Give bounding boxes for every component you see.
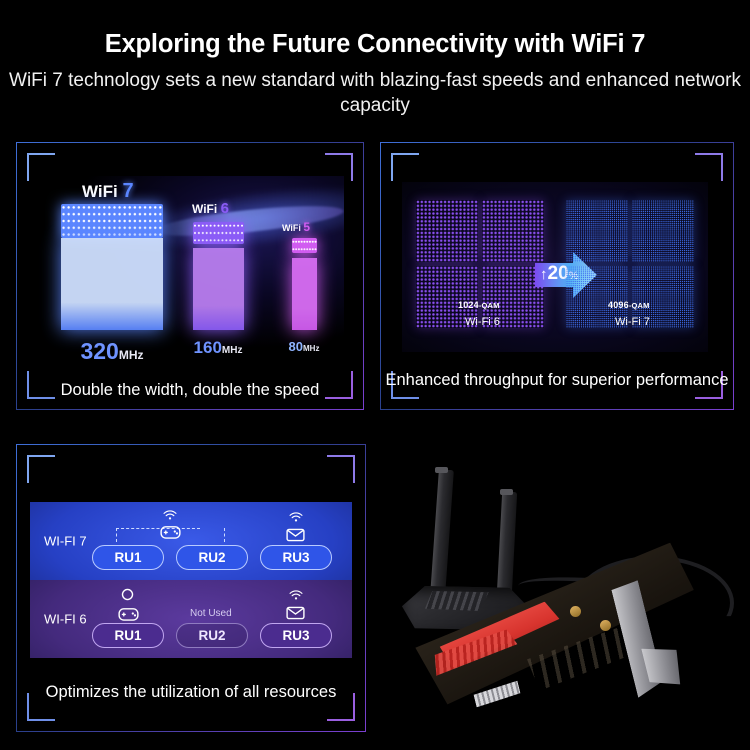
qam-standard-left: Wi-Fi 6 (465, 316, 500, 328)
resource-unit-chip-ru3[interactable]: RU3 (260, 545, 332, 570)
corner-bracket-tr (695, 153, 723, 181)
bandwidth-number: 320 (80, 338, 118, 364)
panel-caption: Enhanced throughput for superior perform… (380, 370, 734, 391)
ru-link-bridge (116, 528, 200, 529)
product-image (378, 438, 750, 750)
resource-unit-chip-ru2[interactable]: RU2 (176, 545, 248, 570)
corner-bracket-tr (327, 455, 355, 483)
qam-graphic: 1024-QAM Wi-Fi 6 ↑ 20 % (402, 182, 708, 352)
resource-unit-chip-ru3[interactable]: RU3 (260, 623, 332, 648)
qam-suffix-right: -QAM (629, 301, 650, 310)
qam-label-left: 1024-QAM (458, 300, 500, 310)
bandwidth-beam-80 (292, 258, 317, 330)
panel-caption: Double the width, double the speed (16, 380, 364, 401)
header: Exploring the Future Connectivity with W… (0, 0, 750, 118)
circle-icon (121, 588, 134, 606)
gamepad-icon (160, 524, 181, 544)
ru-link-leg (116, 528, 117, 542)
bandwidth-number: 160 (194, 338, 222, 357)
resource-row-seven: WI-FI 7RU1RU2RU3 (30, 502, 352, 580)
wifi-icon (289, 588, 303, 606)
envelope-icon (286, 606, 305, 625)
corner-bracket-tl (391, 153, 419, 181)
resource-unit-chip-ru2[interactable]: RU2 (176, 623, 248, 648)
panel-resource-units: WI-FI 7RU1RU2RU3WI-FI 6RU1RU2Not UsedRU3… (16, 444, 366, 732)
wifi-icon (289, 510, 303, 528)
bandwidth-dot-block-320 (61, 204, 163, 238)
bandwidth-dot-block-160 (193, 222, 244, 244)
bandwidth-number: 80 (289, 339, 303, 354)
antenna-right-tip (500, 489, 513, 495)
bandwidth-tier-label-80: WiFi 5 (282, 220, 310, 234)
qam-label-right: 4096-QAM (608, 300, 650, 310)
antenna-connector-1 (570, 606, 581, 617)
qam-suffix-left: -QAM (479, 301, 500, 310)
resource-row-label: WI-FI 6 (44, 612, 87, 627)
corner-bracket-tl (27, 455, 55, 483)
qam-value-right: 4096 (608, 300, 629, 310)
antenna-connector-2 (600, 620, 611, 631)
resource-unit-graphic: WI-FI 7RU1RU2RU3WI-FI 6RU1RU2Not UsedRU3 (30, 502, 352, 658)
gamepad-icon (118, 606, 139, 626)
bandwidth-dot-block-80 (292, 238, 317, 253)
bandwidth-unit: MHz (119, 348, 144, 362)
resource-unit-unused-note: Not Used (190, 608, 232, 619)
bandwidth-unit: MHz (303, 344, 319, 353)
resource-row-six: WI-FI 6RU1RU2Not UsedRU3 (30, 580, 352, 658)
resource-unit-chip-ru1[interactable]: RU1 (92, 623, 164, 648)
ru-link-leg (224, 528, 225, 542)
page-title: Exploring the Future Connectivity with W… (0, 0, 750, 59)
bandwidth-value-320: 320MHz (52, 338, 172, 365)
bandwidth-graphic: WiFi 7320MHzWiFi 6160MHzWiFi 580MHz (38, 176, 344, 368)
antenna-left-tip (435, 467, 448, 473)
resource-row-label: WI-FI 7 (44, 534, 87, 549)
envelope-icon (286, 528, 305, 547)
qam-quadrant (632, 200, 694, 262)
bandwidth-tier-label-160: WiFi 6 (192, 200, 229, 217)
bandwidth-beam-160 (193, 248, 244, 330)
page-subtitle: WiFi 7 technology sets a new standard wi… (0, 59, 750, 118)
up-arrow-icon: ↑ (540, 267, 548, 282)
bandwidth-tier-label-320: WiFi 7 (82, 180, 134, 203)
qam-value-left: 1024 (458, 300, 479, 310)
qam-standard-right: Wi-Fi 7 (615, 316, 650, 328)
qam-quadrant (566, 200, 628, 262)
qam-quadrant (416, 200, 478, 262)
wifi7-product-infographic: Exploring the Future Connectivity with W… (0, 0, 750, 750)
bandwidth-value-80: 80MHz (244, 338, 344, 356)
panel-caption: Optimizes the utilization of all resourc… (16, 682, 366, 703)
bandwidth-unit: MHz (222, 345, 243, 356)
panel-qam: 1024-QAM Wi-Fi 6 ↑ 20 % (380, 142, 734, 410)
resource-unit-chip-ru1[interactable]: RU1 (92, 545, 164, 570)
panel-bandwidth: WiFi 7320MHzWiFi 6160MHzWiFi 580MHz Doub… (16, 142, 364, 410)
wifi-icon (163, 508, 177, 526)
bandwidth-beam-320 (61, 238, 163, 330)
